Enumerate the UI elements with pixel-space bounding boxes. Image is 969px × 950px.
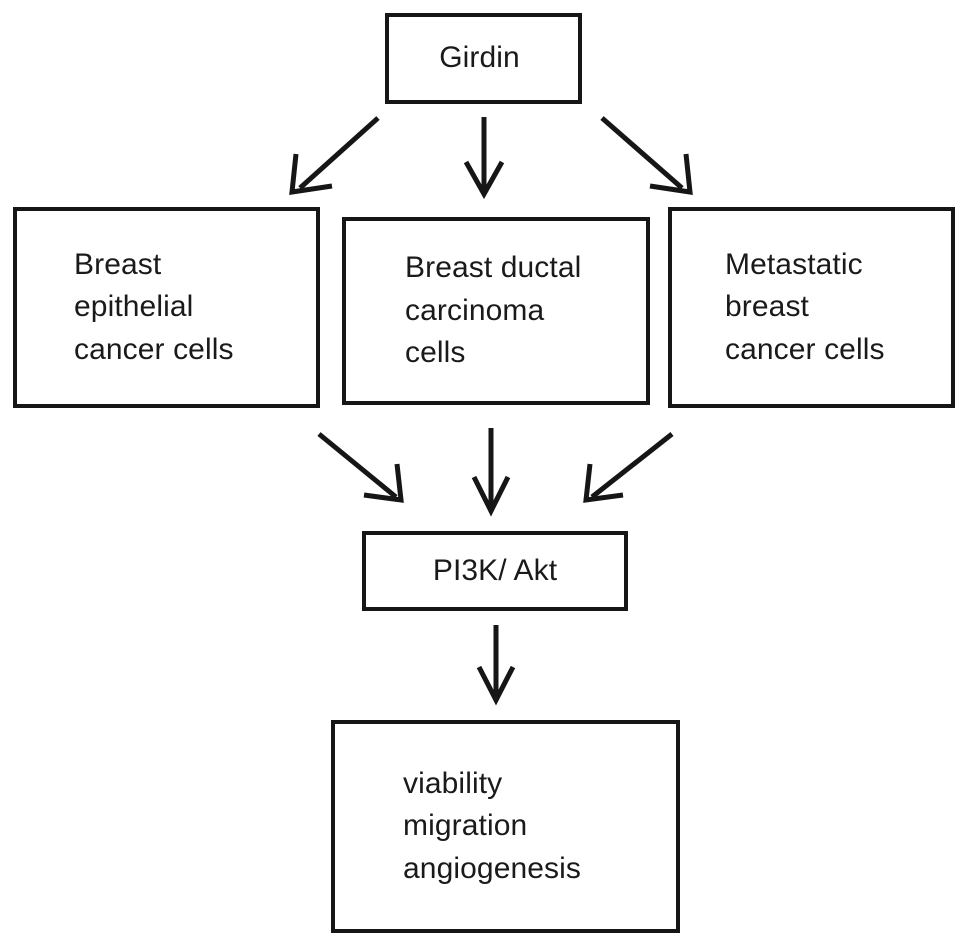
node-girdin-label: Girdin xyxy=(389,37,578,80)
node-girdin[interactable]: Girdin xyxy=(385,13,582,104)
arrow-pi3k-to-outcomes xyxy=(479,625,513,700)
arrow-girdin-to-ductal xyxy=(466,117,502,194)
node-breast-epithelial-cancer-cells-label: Breast epithelial cancer cells xyxy=(17,244,316,372)
arrow-girdin-to-epithelial xyxy=(292,118,378,192)
node-pi3k-akt[interactable]: PI3K/ Akt xyxy=(362,531,628,611)
node-outcomes[interactable]: viability migration angiogenesis xyxy=(331,720,680,933)
node-pi3k-akt-label: PI3K/ Akt xyxy=(366,550,624,593)
node-metastatic-breast-cancer-cells[interactable]: Metastatic breast cancer cells xyxy=(668,207,955,408)
node-metastatic-breast-cancer-cells-label: Metastatic breast cancer cells xyxy=(672,244,951,372)
arrow-metastatic-to-pi3k xyxy=(586,434,672,500)
arrow-ductal-to-pi3k xyxy=(474,428,508,511)
node-breast-ductal-carcinoma-cells[interactable]: Breast ductal carcinoma cells xyxy=(342,217,650,405)
node-breast-epithelial-cancer-cells[interactable]: Breast epithelial cancer cells xyxy=(13,207,320,408)
node-breast-ductal-carcinoma-cells-label: Breast ductal carcinoma cells xyxy=(346,247,646,375)
diagram-canvas: Girdin Breast epithelial cancer cells Br… xyxy=(0,0,969,950)
arrow-epithelial-to-pi3k xyxy=(319,434,401,500)
arrow-girdin-to-metastatic xyxy=(602,118,690,192)
node-outcomes-label: viability migration angiogenesis xyxy=(335,763,676,891)
